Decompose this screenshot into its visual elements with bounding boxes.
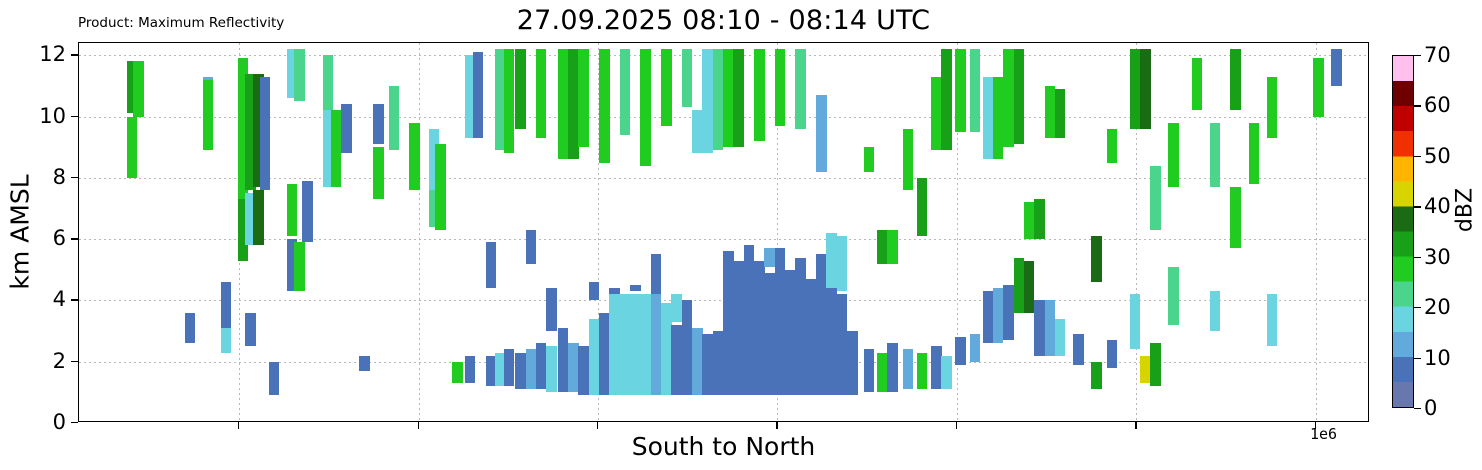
reflectivity-segment xyxy=(795,49,806,129)
colorbar-title-text: dBZ xyxy=(1453,188,1478,232)
reflectivity-segment xyxy=(1073,334,1084,365)
reflectivity-segment xyxy=(589,282,600,300)
reflectivity-segment xyxy=(1210,291,1221,331)
reflectivity-segment xyxy=(931,77,942,151)
reflectivity-segment xyxy=(536,343,547,389)
reflectivity-segment xyxy=(1249,123,1260,184)
reflectivity-segment xyxy=(1091,236,1102,282)
reflectivity-segment xyxy=(931,346,942,389)
reflectivity-segment xyxy=(245,313,256,347)
x-axis-tick xyxy=(418,422,419,429)
reflectivity-segment xyxy=(692,328,703,395)
colorbar-tick xyxy=(1414,156,1421,157)
reflectivity-segment xyxy=(1003,285,1014,340)
colorbar-tick-label: 40 xyxy=(1424,194,1451,218)
reflectivity-segment xyxy=(609,288,620,294)
plot-area xyxy=(78,42,1369,422)
reflectivity-segment xyxy=(558,49,569,159)
reflectivity-segment xyxy=(568,343,579,392)
reflectivity-segment xyxy=(661,303,672,395)
reflectivity-segment xyxy=(302,181,313,242)
reflectivity-segment xyxy=(1107,340,1118,368)
reflectivity-segment xyxy=(1091,362,1102,390)
y-axis-tick xyxy=(71,177,78,178)
reflectivity-segment xyxy=(341,104,352,153)
reflectivity-segment xyxy=(713,49,724,150)
reflectivity-segment xyxy=(682,300,693,395)
reflectivity-segment xyxy=(1150,166,1161,230)
reflectivity-segment xyxy=(287,184,298,236)
reflectivity-segment xyxy=(409,123,420,190)
reflectivity-segment xyxy=(775,248,786,395)
reflectivity-segment xyxy=(970,49,981,132)
reflectivity-segment xyxy=(526,349,537,389)
reflectivity-segment xyxy=(775,49,786,126)
reflectivity-segment xyxy=(887,230,898,264)
reflectivity-segment xyxy=(253,190,264,245)
colorbar-tick xyxy=(1414,358,1421,359)
reflectivity-segment xyxy=(733,261,744,396)
reflectivity-segment xyxy=(692,110,703,153)
reflectivity-segment xyxy=(764,248,775,266)
reflectivity-segment xyxy=(1140,356,1151,384)
reflectivity-segment xyxy=(1107,129,1118,163)
radar-cross-section-figure: Product: Maximum Reflectivity 27.09.2025… xyxy=(0,0,1482,470)
reflectivity-segment xyxy=(651,254,662,294)
y-axis-tick xyxy=(71,299,78,300)
reflectivity-segment xyxy=(515,353,526,390)
colorbar: 010203040506070 xyxy=(1392,55,1414,408)
reflectivity-segment xyxy=(127,117,138,178)
y-axis-tick xyxy=(71,116,78,117)
reflectivity-segment xyxy=(651,294,662,395)
reflectivity-segment xyxy=(359,356,370,371)
reflectivity-segment xyxy=(682,49,693,107)
reflectivity-segment xyxy=(620,49,631,135)
reflectivity-segment xyxy=(887,343,898,392)
reflectivity-segment xyxy=(970,334,981,362)
reflectivity-segment xyxy=(1045,86,1056,138)
reflectivity-segment xyxy=(1130,294,1141,349)
colorbar-tick xyxy=(1414,257,1421,258)
reflectivity-segment xyxy=(983,291,994,343)
reflectivity-segment xyxy=(373,104,384,144)
reflectivity-segment xyxy=(941,49,952,150)
reflectivity-segment xyxy=(754,261,765,396)
reflectivity-segment xyxy=(816,95,827,172)
colorbar-tick xyxy=(1414,105,1421,106)
reflectivity-segment xyxy=(620,294,631,395)
colorbar-gradient xyxy=(1392,55,1414,408)
reflectivity-segment xyxy=(877,230,888,264)
x-axis-tick xyxy=(956,422,957,429)
colorbar-tick xyxy=(1414,307,1421,308)
reflectivity-segment xyxy=(504,349,515,386)
reflectivity-segment xyxy=(816,254,827,395)
reflectivity-segment xyxy=(826,233,837,288)
y-axis-tick-label: 8 xyxy=(0,165,66,189)
reflectivity-segment xyxy=(955,49,966,132)
reflectivity-segment xyxy=(294,49,305,101)
reflectivity-segment xyxy=(546,346,557,392)
reflectivity-segment xyxy=(373,147,384,199)
reflectivity-segment xyxy=(671,325,682,395)
reflectivity-segment xyxy=(568,49,579,159)
colorbar-tick-label: 0 xyxy=(1424,396,1437,420)
reflectivity-segment xyxy=(1055,319,1066,356)
reflectivity-segment xyxy=(917,178,928,236)
colorbar-tick-label: 30 xyxy=(1424,245,1451,269)
reflectivity-segment xyxy=(504,49,515,153)
reflectivity-segment xyxy=(764,273,775,396)
reflectivity-segment xyxy=(955,337,966,365)
reflectivity-segment xyxy=(1168,267,1179,325)
reflectivity-segment xyxy=(1230,49,1241,110)
reflectivity-segment xyxy=(536,49,547,138)
reflectivity-segment xyxy=(744,245,755,395)
colorbar-tick-label: 20 xyxy=(1424,295,1451,319)
reflectivity-segment xyxy=(630,294,641,395)
reflectivity-segment xyxy=(435,144,446,230)
reflectivity-segment xyxy=(294,242,305,291)
reflectivity-segment xyxy=(486,242,497,288)
reflectivity-segment xyxy=(133,61,144,116)
x-axis-tick xyxy=(238,422,239,429)
colorbar-tick-label: 50 xyxy=(1424,144,1451,168)
colorbar-tick xyxy=(1414,408,1421,409)
reflectivity-segment xyxy=(609,294,620,395)
reflectivity-segment xyxy=(578,346,589,395)
x-axis-tick xyxy=(1135,422,1136,429)
colorbar-tick-label: 70 xyxy=(1424,43,1451,67)
reflectivity-segment xyxy=(754,49,765,141)
reflectivity-segment xyxy=(1150,343,1161,386)
reflectivity-segment xyxy=(795,258,806,396)
reflectivity-segment xyxy=(1034,300,1045,355)
reflectivity-segment xyxy=(546,288,557,331)
reflectivity-segment xyxy=(826,288,837,395)
reflectivity-segment xyxy=(1014,49,1025,144)
reflectivity-segment xyxy=(713,331,724,395)
reflectivity-segment xyxy=(1210,123,1221,187)
colorbar-tick xyxy=(1414,55,1421,56)
reflectivity-segment xyxy=(733,49,744,147)
reflectivity-segment xyxy=(1024,261,1035,313)
reflectivity-segment xyxy=(1331,49,1342,86)
reflectivity-segment xyxy=(599,313,610,396)
reflectivity-data xyxy=(79,43,1368,421)
reflectivity-segment xyxy=(806,279,817,395)
reflectivity-segment xyxy=(1230,187,1241,248)
reflectivity-segment xyxy=(203,80,214,150)
reflectivity-segment xyxy=(640,49,651,165)
reflectivity-segment xyxy=(260,77,271,190)
x-axis-label: South to North xyxy=(78,432,1369,461)
y-axis-tick-label: 12 xyxy=(0,42,66,66)
reflectivity-segment xyxy=(558,328,569,392)
reflectivity-segment xyxy=(331,110,342,187)
reflectivity-segment xyxy=(723,251,734,395)
colorbar-tick-label: 10 xyxy=(1424,346,1451,370)
reflectivity-segment xyxy=(1192,58,1203,110)
reflectivity-segment xyxy=(941,356,952,390)
reflectivity-segment xyxy=(723,49,734,147)
reflectivity-segment xyxy=(599,49,610,162)
reflectivity-segment xyxy=(269,362,280,396)
y-axis-tick xyxy=(71,238,78,239)
reflectivity-segment xyxy=(1045,300,1056,355)
reflectivity-segment xyxy=(661,49,672,126)
reflectivity-segment xyxy=(993,77,1004,160)
reflectivity-segment xyxy=(864,147,875,172)
y-axis-tick-label: 6 xyxy=(0,226,66,250)
page-title: 27.09.2025 08:10 - 08:14 UTC xyxy=(78,5,1369,36)
x-axis-tick xyxy=(597,422,598,429)
reflectivity-segment xyxy=(630,285,641,291)
reflectivity-segment xyxy=(323,55,334,110)
reflectivity-segment xyxy=(465,356,476,384)
x-axis-tick xyxy=(776,422,777,429)
reflectivity-segment xyxy=(1003,49,1014,147)
y-axis-tick xyxy=(71,361,78,362)
y-axis-tick-label: 0 xyxy=(0,410,66,434)
y-axis-tick xyxy=(71,422,78,423)
y-axis-tick-label: 4 xyxy=(0,287,66,311)
reflectivity-segment xyxy=(864,349,875,392)
reflectivity-segment xyxy=(221,282,232,328)
reflectivity-segment xyxy=(671,294,682,322)
reflectivity-segment xyxy=(1168,123,1179,187)
colorbar-tick xyxy=(1414,206,1421,207)
reflectivity-segment xyxy=(589,319,600,396)
colorbar-title: dBZ xyxy=(1452,150,1478,270)
reflectivity-segment xyxy=(877,353,888,393)
reflectivity-segment xyxy=(847,331,858,395)
y-axis-tick-label: 2 xyxy=(0,349,66,373)
reflectivity-segment xyxy=(389,86,400,150)
reflectivity-segment xyxy=(917,353,928,390)
reflectivity-segment xyxy=(1130,49,1141,129)
reflectivity-segment xyxy=(837,294,848,395)
reflectivity-segment xyxy=(785,270,796,396)
reflectivity-segment xyxy=(185,313,196,344)
reflectivity-segment xyxy=(578,49,589,147)
reflectivity-segment xyxy=(1313,58,1324,116)
reflectivity-segment xyxy=(1140,49,1151,129)
reflectivity-segment xyxy=(903,349,914,389)
reflectivity-segment xyxy=(1267,294,1278,346)
y-axis-tick xyxy=(71,54,78,55)
reflectivity-segment xyxy=(837,236,848,291)
reflectivity-segment xyxy=(452,362,463,383)
reflectivity-segment xyxy=(526,230,537,264)
y-axis-tick-label: 10 xyxy=(0,104,66,128)
reflectivity-segment xyxy=(903,129,914,190)
reflectivity-segment xyxy=(1267,77,1278,138)
reflectivity-segment xyxy=(1024,202,1035,239)
reflectivity-segment xyxy=(640,294,651,395)
reflectivity-segment xyxy=(473,52,484,138)
reflectivity-segment xyxy=(993,288,1004,343)
reflectivity-segment xyxy=(983,77,994,160)
reflectivity-segment xyxy=(1034,199,1045,239)
reflectivity-segment xyxy=(515,49,526,129)
x-axis-offset-label: 1e6 xyxy=(1310,425,1337,443)
reflectivity-segment xyxy=(702,49,713,153)
reflectivity-segment xyxy=(702,334,713,395)
colorbar-tick-label: 60 xyxy=(1424,93,1451,117)
reflectivity-segment xyxy=(1055,89,1066,138)
reflectivity-segment xyxy=(1014,258,1025,313)
